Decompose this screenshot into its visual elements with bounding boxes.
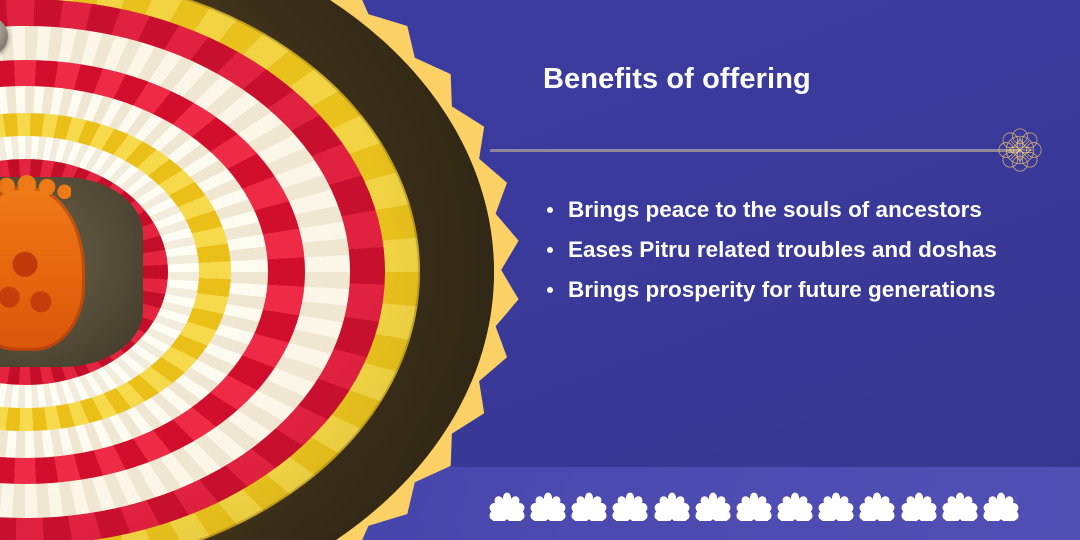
lotus-border-strip [488,484,1020,524]
list-item: Brings peace to the souls of ancestors [540,190,1010,230]
lotus-motif-icon [653,487,691,521]
rangoli-photo-panel [0,0,520,540]
rangoli-photo [0,0,494,540]
lotus-motif-icon [900,487,938,521]
lotus-motif-icon [735,487,773,521]
lotus-motif-icon [694,487,732,521]
slide-canvas: Benefits of offering Brings peace to the… [0,0,1080,540]
lotus-motif-icon [611,487,649,521]
lotus-motif-icon [776,487,814,521]
divider-rule [490,149,1020,152]
benefits-list-items: Brings peace to the souls of ancestors E… [540,190,1010,310]
benefits-list: Brings peace to the souls of ancestors E… [540,190,1010,310]
list-item: Eases Pitru related troubles and doshas [540,230,1010,270]
lotus-motif-icon [817,487,855,521]
lotus-motif-icon [858,487,896,521]
lotus-motif-icon [982,487,1020,521]
list-item: Brings prosperity for future generations [540,270,1010,310]
lotus-motif-icon [941,487,979,521]
page-title: Benefits of offering [543,63,811,96]
lotus-motif-icon [570,487,608,521]
mandala-ornament-icon [997,127,1043,173]
lotus-motif-icon [488,487,526,521]
photo-vignette [0,0,494,540]
lotus-motif-icon [529,487,567,521]
